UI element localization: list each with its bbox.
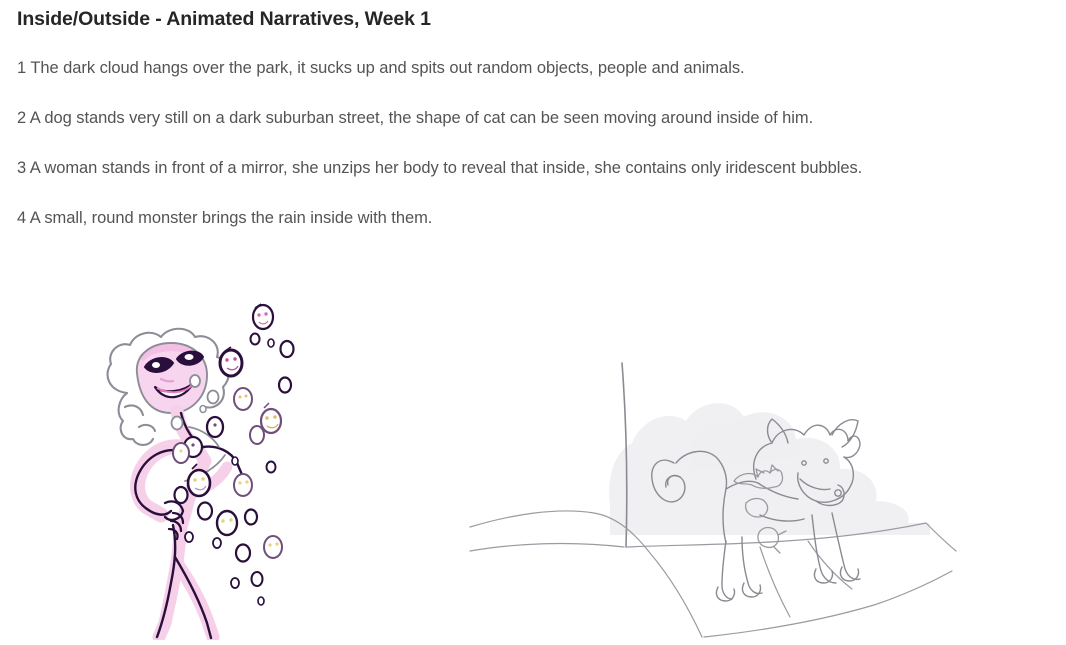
narrative-line-4: 4 A small, round monster brings the rain…	[17, 209, 432, 228]
narrative-line-2: 2 A dog stands very still on a dark subu…	[17, 109, 813, 128]
narrative-line-1: 1 The dark cloud hangs over the park, it…	[17, 59, 745, 78]
woman-bubbles-drawing	[85, 295, 315, 640]
illustration-dog-street	[460, 355, 960, 645]
illustration-woman-bubbles	[85, 295, 315, 640]
page-title: Inside/Outside - Animated Narratives, We…	[17, 8, 431, 31]
document-page: Inside/Outside - Animated Narratives, We…	[0, 0, 1066, 640]
narrative-line-3: 3 A woman stands in front of a mirror, s…	[17, 159, 862, 178]
dog-street-drawing	[460, 355, 960, 645]
